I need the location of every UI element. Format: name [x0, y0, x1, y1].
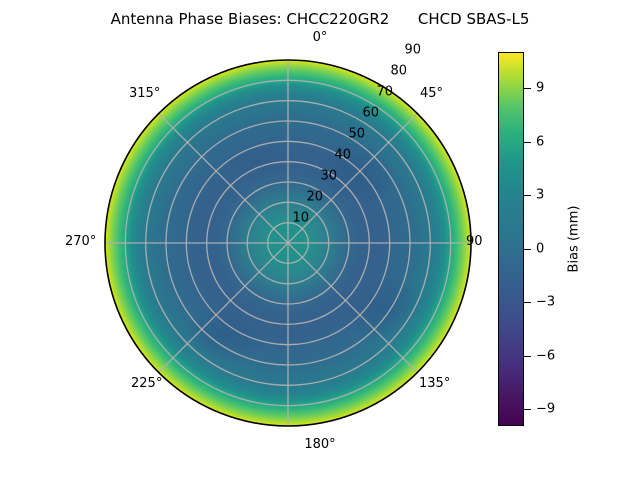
colorbar-gradient	[498, 52, 524, 426]
colorbar-tick-3	[524, 195, 531, 196]
angular-tick-225: 225°	[131, 376, 162, 391]
colorbar-ticklabel-m3: −3	[536, 295, 555, 310]
radial-tick-40: 40	[334, 148, 351, 163]
radial-tick-30: 30	[320, 169, 337, 184]
colorbar-ticklabel-m9: −9	[536, 402, 555, 417]
page-title: Antenna Phase Biases: CHCC220GR2 CHCD SB…	[0, 10, 640, 28]
colorbar-tick-6	[524, 142, 531, 143]
polar-axes: 10 20 30 40 50 60 70 80 90	[105, 60, 471, 426]
colorbar-tick-m6	[524, 356, 531, 357]
radial-tick-50: 50	[348, 127, 365, 142]
colorbar-ticklabel-3: 3	[536, 188, 544, 203]
radial-tick-20: 20	[306, 190, 323, 205]
angular-tick-0: 0°	[0, 30, 640, 45]
colorbar-tick-m3	[524, 302, 531, 303]
figure-canvas: Antenna Phase Biases: CHCC220GR2 CHCD SB…	[0, 0, 640, 480]
radial-tick-80: 80	[390, 64, 407, 79]
radial-tick-70: 70	[376, 85, 393, 100]
colorbar-tick-0	[524, 249, 531, 250]
colorbar-ticklabel-9: 9	[536, 81, 544, 96]
angular-tick-45: 45°	[420, 86, 443, 101]
colorbar-ticklabel-6: 6	[536, 135, 544, 150]
colorbar-tick-m9	[524, 409, 531, 410]
angular-tick-90: 90	[466, 234, 483, 249]
angular-tick-135: 135°	[419, 376, 450, 391]
angular-tick-270: 270°	[65, 234, 96, 249]
radial-tick-60: 60	[362, 106, 379, 121]
colorbar-tick-9	[524, 88, 531, 89]
angular-tick-315: 315°	[129, 86, 160, 101]
colorbar-ticklabel-0: 0	[536, 242, 544, 257]
colorbar: 9 6 3 0 −3 −6 −9 Bias (mm)	[498, 52, 618, 426]
angular-tick-180: 180°	[0, 437, 640, 452]
colorbar-ticklabel-m6: −6	[536, 349, 555, 364]
polar-spokes	[105, 60, 471, 426]
polar-plot-svg	[105, 60, 471, 426]
colorbar-axis-label: Bias (mm)	[567, 206, 582, 273]
radial-tick-10: 10	[292, 211, 309, 226]
